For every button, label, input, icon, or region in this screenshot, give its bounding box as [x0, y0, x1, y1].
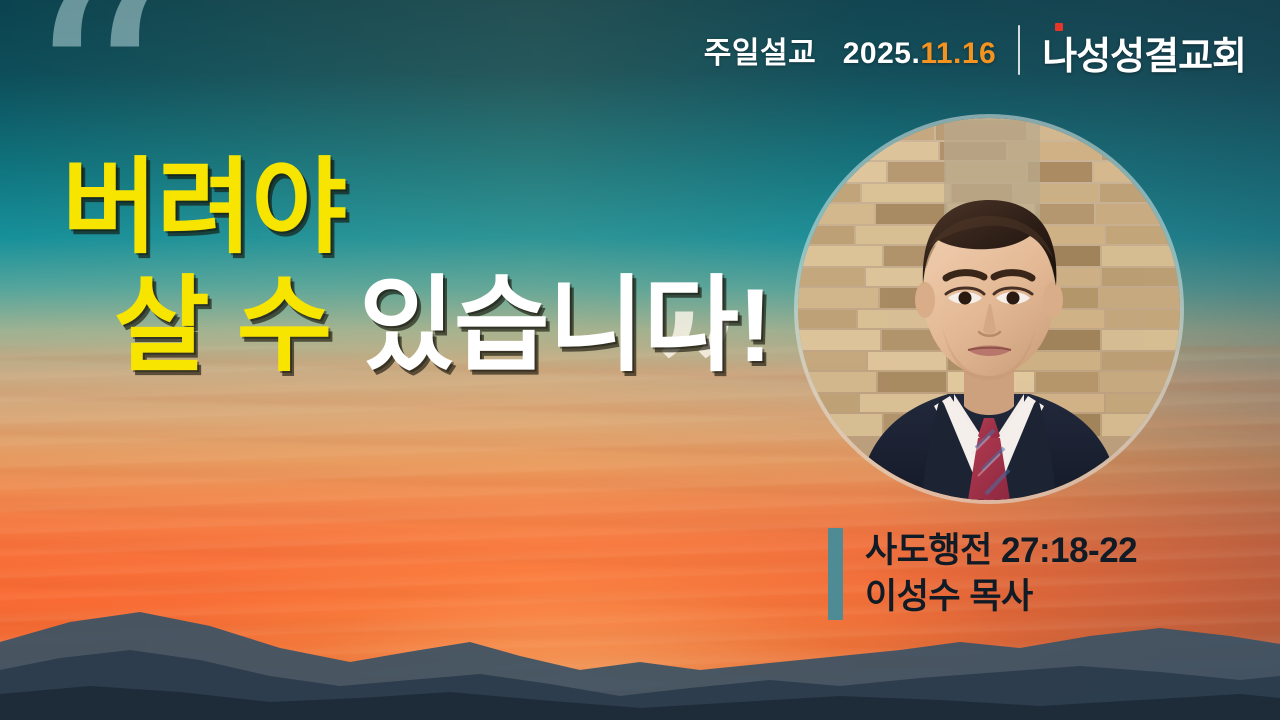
- scripture-reference: 사도행전 27:18-22: [865, 528, 1137, 574]
- date-year-prefix: 2025.: [843, 37, 921, 70]
- title-line-1: 버려야: [62, 150, 776, 268]
- title-line-2-rest: 있습니다!: [359, 268, 771, 384]
- caption-text-group: 사도행전 27:18-22 이성수 목사: [865, 528, 1137, 620]
- sermon-date-label: 주일설교 2025.11.16: [704, 28, 996, 72]
- church-logo-text: 나성성결교회: [1042, 25, 1246, 80]
- speaker-portrait-image: [798, 118, 1180, 500]
- title-line-2-highlight: 살 수: [114, 268, 331, 384]
- title-line-1-text: 버려야: [62, 150, 346, 266]
- speaker-name: 이성수 목사: [865, 574, 1137, 620]
- header: 주일설교 2025.11.16 나성성결교회: [704, 22, 1246, 78]
- sermon-title: 버려야 살 수 있습니다!: [56, 150, 776, 385]
- scripture-speaker-caption: 사도행전 27:18-22 이성수 목사: [828, 528, 1137, 620]
- caption-accent-bar: [828, 528, 843, 620]
- title-line-2: 살 수 있습니다!: [114, 268, 776, 386]
- series-label: 주일설교: [704, 37, 816, 70]
- church-logo: 나성성결교회: [1042, 21, 1246, 80]
- header-divider: [1018, 25, 1020, 75]
- sermon-title-slide: “ ” 주일설교 2025.11.16 나성성결교회 버려야 살 수 있습니다!: [0, 0, 1280, 720]
- date-accent: 11.16: [920, 37, 996, 70]
- speaker-portrait-avatar: [798, 118, 1180, 500]
- logo-accent-dot-icon: [1055, 23, 1063, 31]
